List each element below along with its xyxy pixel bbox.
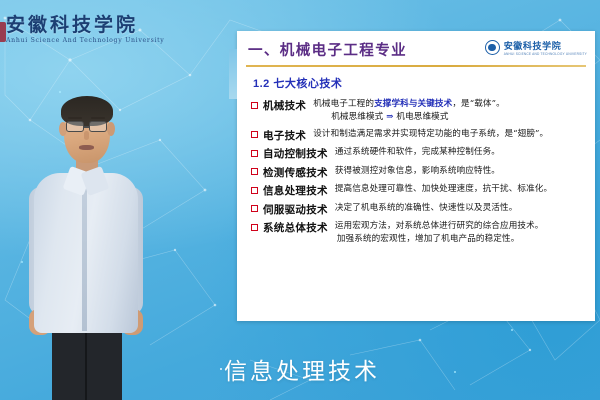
desc-pre: 机械电子工程的: [313, 99, 374, 109]
desc-line1: 运用宏观方法，对系统总体进行研究的综合应用技术。: [335, 221, 544, 231]
list-item: 电子技术 设计和制造满足需求并实现特定功能的电子系统，是“翅膀”。: [251, 128, 595, 143]
square-bullet-icon: [251, 168, 258, 175]
arrow-icon: ⇒: [386, 112, 393, 122]
square-bullet-icon: [251, 224, 258, 231]
video-stage: 安徽科技学院 Anhui Science And Technology Univ…: [0, 0, 600, 400]
desc-line2-a: 机械思维模式: [331, 112, 383, 122]
bullet-term: 信息处理技术: [263, 183, 328, 198]
square-bullet-icon: [251, 131, 258, 138]
school-name-cn: 安徽科技学院: [6, 16, 168, 36]
square-bullet-icon: [251, 187, 258, 194]
bullet-term: 电子技术: [263, 128, 306, 143]
bullet-description: 设计和制造满足需求并实现特定功能的电子系统，是“翅膀”。: [313, 128, 548, 141]
desc-post: ，是“载体”。: [452, 99, 504, 109]
square-bullet-icon: [251, 102, 258, 109]
presentation-slide: 一、机械电子工程专业 安徽科技学院 ANHUI SCIENCE AND TECH…: [237, 31, 595, 321]
list-item: 系统总体技术 运用宏观方法，对系统总体进行研究的综合应用技术。加强系统的宏观性，…: [251, 220, 595, 246]
presenter-nose: [84, 131, 89, 140]
list-item: 机械技术 机械电子工程的支撑学科与关键技术，是“载体”。机械思维模式 ⇒ 机电思…: [251, 98, 595, 124]
desc-highlight: 支撑学科与关键技术: [374, 99, 452, 109]
slide-logo-name-en: ANHUI SCIENCE AND TECHNOLOGY UNIVERSITY: [504, 52, 587, 56]
school-logo: 安徽科技学院 Anhui Science And Technology Univ…: [0, 8, 168, 52]
caption-dot-icon: [220, 368, 222, 370]
bullet-description: 提高信息处理可靠性、加快处理速度，抗干扰、标准化。: [335, 183, 552, 196]
bullet-term: 系统总体技术: [263, 220, 328, 235]
desc-line2: 加强系统的宏观性，增加了机电产品的稳定性。: [335, 233, 544, 246]
list-item: 检测传感技术 获得被测控对象信息，影响系统响应特性。: [251, 165, 595, 180]
slide-accent-bar: [229, 49, 237, 99]
list-item: 伺服驱动技术 决定了机电系统的准确性、快速性以及灵活性。: [251, 202, 595, 217]
university-emblem-icon: [485, 40, 500, 55]
bullet-description: 决定了机电系统的准确性、快速性以及灵活性。: [335, 202, 518, 215]
bullet-term: 检测传感技术: [263, 165, 328, 180]
desc-line2-b: 机电思维模式: [396, 112, 448, 122]
bullet-description: 通过系统硬件和软件，完成某种控制任务。: [335, 146, 500, 159]
video-caption: 信息处理技术: [0, 352, 600, 386]
presenter-shirt-placket: [82, 183, 87, 331]
presenter-mouth: [79, 145, 94, 150]
bullet-term: 机械技术: [263, 98, 306, 113]
presenter-ear-right: [107, 122, 115, 136]
list-item: 自动控制技术 通过系统硬件和软件，完成某种控制任务。: [251, 146, 595, 161]
bullet-description: 获得被测控对象信息，影响系统响应特性。: [335, 165, 500, 178]
core-technologies-list: 机械技术 机械电子工程的支撑学科与关键技术，是“载体”。机械思维模式 ⇒ 机电思…: [237, 91, 595, 246]
presenter-glasses-left-lens: [66, 121, 84, 132]
caption-text: 信息处理技术: [224, 358, 380, 384]
bullet-description: 运用宏观方法，对系统总体进行研究的综合应用技术。加强系统的宏观性，增加了机电产品…: [335, 220, 544, 246]
logo-mark: [0, 22, 6, 42]
slide-logo-name-cn: 安徽科技学院: [504, 39, 587, 52]
slide-subtitle: 1.2 七大核心技术: [237, 67, 595, 91]
presenter-glasses-bridge: [84, 126, 90, 128]
bullet-description: 机械电子工程的支撑学科与关键技术，是“载体”。机械思维模式 ⇒ 机电思维模式: [313, 98, 505, 124]
bullet-term: 伺服驱动技术: [263, 202, 328, 217]
bullet-term: 自动控制技术: [263, 146, 328, 161]
square-bullet-icon: [251, 205, 258, 212]
slide-university-logo: 安徽科技学院 ANHUI SCIENCE AND TECHNOLOGY UNIV…: [485, 39, 587, 56]
presenter-glasses-right-lens: [89, 121, 107, 132]
school-name-en: Anhui Science And Technology University: [6, 37, 168, 44]
list-item: 信息处理技术 提高信息处理可靠性、加快处理速度，抗干扰、标准化。: [251, 183, 595, 198]
square-bullet-icon: [251, 150, 258, 157]
